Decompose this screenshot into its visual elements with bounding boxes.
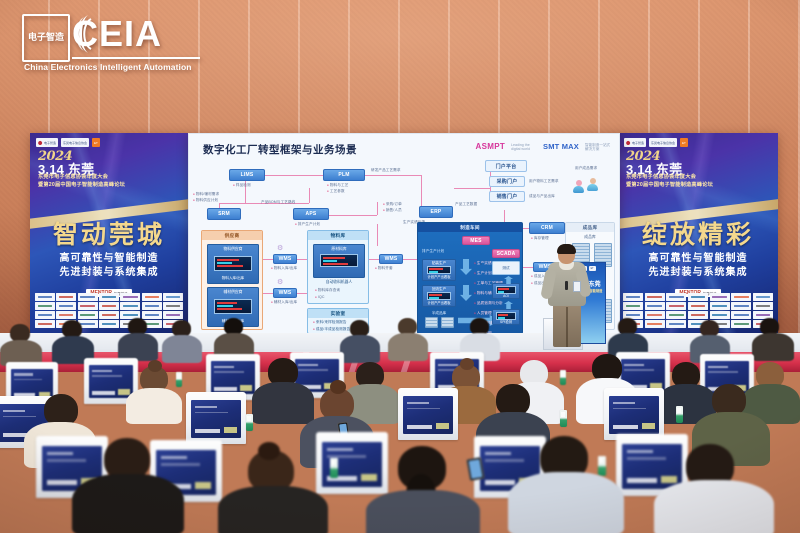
- water-bottle: [246, 414, 253, 431]
- edge-supplier-wms2: [263, 293, 273, 294]
- smtmax-tagline: 智能制造一站式解决方案: [585, 143, 611, 151]
- org-chip-1: ⬤电子智造: [36, 138, 58, 147]
- node-lims[interactable]: LIMS: [229, 169, 265, 181]
- speaker-badge: [573, 281, 581, 292]
- machine-display-icon: [320, 254, 358, 267]
- supplier-material-label: 物料供应商: [208, 247, 258, 252]
- edge-aps-up: [309, 188, 310, 203]
- edge-erp-portal: [454, 188, 490, 189]
- microphone-icon: [565, 281, 568, 290]
- chair-with-cover: [316, 432, 388, 494]
- sponsor-logo: [99, 302, 119, 310]
- node-srm[interactable]: SRM: [207, 208, 241, 220]
- sponsor-logo: [142, 293, 162, 301]
- sponsor-logo: [99, 293, 119, 301]
- node-portal[interactable]: 门户平台: [485, 160, 527, 172]
- label-edge-e4: 用户成品需求: [575, 166, 597, 171]
- finished-inner-label: 成品库: [566, 235, 614, 240]
- chair-with-cover: [398, 388, 458, 440]
- label-erp-sub2: 销售/人员: [383, 208, 402, 213]
- attendee-body: [752, 333, 794, 361]
- banner-left-org-logos: ⬤电子智造 东莞电子信息协会 ET: [36, 138, 100, 147]
- label-aps-sub: 排产生产计划: [295, 222, 320, 227]
- org-chip-2: 东莞电子信息协会: [649, 138, 677, 147]
- chair-with-cover: [604, 388, 664, 440]
- label-edge-e1: 产品工艺数据: [455, 202, 477, 207]
- sponsor-logo: [35, 302, 55, 310]
- smtmax-logo: SMT MAX: [543, 142, 579, 151]
- workshop-test-box: 测试: [492, 261, 520, 275]
- spacer: [480, 263, 482, 265]
- label-edge-e2: 研发产品工艺需求: [371, 168, 401, 173]
- water-bottle: [560, 370, 566, 385]
- panel-lab-title: 实验室: [308, 309, 368, 318]
- ceia-wordmark: CEIA: [72, 14, 162, 54]
- asmpt-tagline: Leading the digital world: [511, 143, 537, 151]
- panel-material-warehouse: 物料库 原材料库 自动收料机器人 物料库存查询 IQC: [307, 230, 369, 304]
- edge-supplier-wms1: [263, 259, 273, 260]
- water-bottle: [176, 372, 182, 387]
- chair-cover-print: [622, 444, 681, 489]
- material-robot-label: 自动收料机器人: [313, 280, 365, 285]
- node-portal-sales[interactable]: 销售门户: [489, 191, 525, 202]
- machine-display-icon: [214, 256, 252, 271]
- workshop-aoi-box: AOI: [492, 283, 520, 299]
- slide-title: 数字化工厂转型框架与业务场景: [203, 142, 357, 157]
- audience-area: [0, 318, 800, 533]
- banner-right: ⬤电子智造 东莞电子信息协会 ET 2024 3.14 东莞 东莞市电子信息协会…: [618, 133, 778, 333]
- attendee-body: [366, 490, 480, 533]
- sponsor-logo: [731, 302, 751, 310]
- label-crm-sub: 库存管理: [531, 236, 549, 241]
- supplier-material-block: 物料供应商 物料入库/出库: [207, 244, 259, 284]
- attendee-hair-bun: [460, 358, 474, 370]
- label-edge-e11: 物料/辅材需求: [193, 192, 219, 197]
- sponsor-logo: [623, 293, 643, 301]
- node-mes[interactable]: MES: [462, 236, 490, 245]
- chair-cover-print: [89, 365, 133, 398]
- conference-stage-photo: 电子智造 CEIA China Electronics Intelligent …: [0, 0, 800, 533]
- sponsor-logo: [666, 293, 686, 301]
- banner-right-line1: 东莞市电子信息协会年度大会: [626, 173, 696, 180]
- label-plan-schedule: 排产生产计划: [422, 249, 444, 254]
- attendee-body: [218, 486, 328, 533]
- user-avatar-icon: [573, 180, 584, 193]
- water-bottle: [560, 410, 567, 427]
- label-lims-sub: 样品检测: [233, 183, 251, 188]
- speaker-hair: [557, 244, 576, 254]
- edge-mat-wms3: [369, 259, 379, 260]
- panel-material-title: 物料库: [308, 231, 368, 240]
- sponsor-logo: [56, 302, 76, 310]
- node-portal-purchase[interactable]: 采购门户: [489, 176, 525, 187]
- attendee-body: [252, 382, 314, 424]
- banner-right-line2: 暨第20届中国电子智能制造高峰论坛: [626, 181, 713, 188]
- edge-plm-right: [365, 175, 421, 176]
- label-edge-e5: 成品与产品出库: [529, 194, 555, 199]
- banner-right-org-logos: ⬤电子智造 东莞电子信息协会 ET: [624, 138, 688, 147]
- sponsor-logo: [753, 302, 773, 310]
- label-wms2-sub: 辅材入库/出库: [271, 300, 297, 305]
- label-edge-e6: 产品BOM与工艺路线: [261, 200, 295, 205]
- sponsor-logo: [688, 293, 708, 301]
- banner-left-line2: 暨第20届中国电子智能制造高峰论坛: [38, 181, 125, 188]
- asmpt-logo: ASMPT: [476, 142, 506, 151]
- sponsor-logo: [710, 302, 730, 310]
- sponsor-logo: [78, 302, 98, 310]
- chair-cover-print: [609, 396, 658, 433]
- attendee-body: [126, 388, 182, 424]
- banner-left-headline: 智动莞城: [30, 215, 188, 251]
- attendee-hair-bun: [258, 442, 280, 460]
- workshop-reflow-sub: 计划产产出看板: [423, 300, 455, 305]
- node-erp[interactable]: ERP: [419, 206, 453, 218]
- label-plm-sub2: 工艺参数: [327, 189, 345, 194]
- attendee-body: [508, 472, 624, 533]
- org-chip-2: 东莞电子信息协会: [61, 138, 89, 147]
- org-chip-1: ⬤电子智造: [624, 138, 646, 147]
- label-wms3-sub: 物料齐套: [375, 266, 393, 271]
- workshop-semi-wh-label: 半成品库: [422, 311, 456, 316]
- water-bottle: [676, 406, 683, 423]
- user-avatar-icon: [587, 178, 598, 191]
- banner-right-sub2: 先进封装与系统集成: [618, 263, 778, 278]
- sponsor-logo: [142, 302, 162, 310]
- sponsor-logo: [688, 302, 708, 310]
- label-erp-sub1: 采购/订单: [383, 202, 402, 207]
- label-iqc: IQC: [315, 295, 325, 299]
- label-stock-query: 物料库存查询: [315, 288, 340, 293]
- node-scada[interactable]: SCADA: [492, 249, 520, 258]
- sponsor-logo: [666, 302, 686, 310]
- ceia-watermark-logo: 电子智造 CEIA China Electronics Intelligent …: [16, 8, 206, 78]
- banner-left-sub1: 高可靠性与智能制造: [30, 249, 188, 264]
- banner-left-sub2: 先进封装与系统集成: [30, 263, 188, 278]
- attendee-body: [388, 333, 428, 361]
- water-bottle: [598, 456, 606, 476]
- chair-cover-print: [403, 396, 452, 433]
- attendee-body: [654, 480, 774, 533]
- gear-icon: ⚙: [277, 278, 283, 286]
- label-wms1-sub: 物料入库/出库: [271, 266, 297, 271]
- sponsor-logo: [731, 293, 751, 301]
- ceia-tagline: China Electronics Intelligent Automation: [24, 62, 192, 72]
- attendee-body: [118, 333, 158, 361]
- sponsor-logo: [645, 302, 665, 310]
- workshop-aoi-label: AOI: [493, 294, 519, 298]
- org-chip-3: ET: [680, 138, 688, 147]
- attendee-body: [340, 335, 380, 363]
- workshop-smt-line: 贴装生产 计划产产出看板: [422, 259, 456, 281]
- sponsor-logo: [163, 293, 183, 301]
- machine-display-icon: [214, 299, 252, 314]
- workshop-smt-sub: 计划产产出看板: [423, 274, 455, 279]
- sponsor-logo: [56, 293, 76, 301]
- sponsor-logo: [78, 293, 98, 301]
- sponsor-logo: [623, 302, 643, 310]
- sponsor-logo: [35, 293, 55, 301]
- node-wms-inbound[interactable]: WMS: [273, 254, 297, 264]
- sponsor-logo: [120, 293, 140, 301]
- node-wms-kitting[interactable]: WMS: [379, 254, 403, 264]
- sponsor-logo: [753, 293, 773, 301]
- sponsor-logo: [163, 302, 183, 310]
- banner-right-headline: 绽放精彩: [618, 215, 778, 251]
- chair-cover-print: [191, 400, 240, 437]
- attendee-body: [72, 474, 184, 533]
- label-plm-sub1: 物料与工艺: [327, 183, 348, 188]
- chair-with-cover: [186, 392, 246, 444]
- wordmark-rule: [72, 57, 200, 59]
- water-bottle: [330, 458, 338, 478]
- gear-icon: ⚙: [277, 244, 283, 252]
- flow-arrow-down: [460, 259, 472, 275]
- panel-supplier-title: 供应商: [202, 231, 262, 240]
- node-aps[interactable]: APS: [293, 208, 329, 220]
- label-edge-e3: 用户物料工艺需求: [529, 179, 559, 184]
- chinese-seal-icon: 电子智造: [22, 14, 70, 62]
- node-crm[interactable]: CRM: [529, 222, 565, 234]
- panel-workshop-title: 制造车间: [418, 223, 522, 232]
- panel-supplier: 供应商 物料供应商 物料入库/出库 辅材供应商 辅材入库/出库: [201, 230, 263, 330]
- attendee-body: [162, 335, 202, 363]
- supplier-aux-label: 辅材供应商: [208, 290, 258, 295]
- material-stock-block: 原材料库: [313, 244, 365, 278]
- chair-cover-print: [211, 361, 255, 394]
- panel-finished-title: 成品库: [566, 223, 614, 232]
- banner-left: ⬤电子智造 东莞电子信息协会 ET 2024 3.14 东莞 东莞市电子信息协会…: [30, 133, 188, 333]
- slide-brand-logos: ASMPT Leading the digital world SMT MAX …: [476, 142, 611, 151]
- flow-arrow-down: [460, 285, 472, 301]
- banner-right-sub1: 高可靠性与智能制造: [618, 249, 778, 264]
- edge-lims-plm: [265, 175, 323, 176]
- sponsor-logo: [645, 293, 665, 301]
- node-wms-aux[interactable]: WMS: [273, 288, 297, 298]
- supplier-material-sub: 物料入库/出库: [208, 276, 258, 281]
- workshop-reflow-line: 回流生产 计划产产出看板: [422, 285, 456, 307]
- edge-erp-down: [377, 202, 378, 215]
- org-chip-3: ET: [92, 138, 100, 147]
- label-edge-e12: 物料供应计划: [193, 198, 218, 203]
- node-plm[interactable]: PLM: [323, 169, 365, 181]
- sponsor-logo: [120, 302, 140, 310]
- attendee-hair-bun: [330, 380, 346, 394]
- sponsor-logo: [710, 293, 730, 301]
- edge-shop-wms4: [523, 267, 533, 268]
- banner-left-line1: 东莞市电子信息协会年度大会: [38, 173, 108, 180]
- machine-display-icon: [496, 286, 516, 294]
- material-stock-label: 原材料库: [314, 247, 364, 252]
- attendee-hair-bun: [148, 360, 162, 372]
- edge-erp-mes: [377, 224, 378, 246]
